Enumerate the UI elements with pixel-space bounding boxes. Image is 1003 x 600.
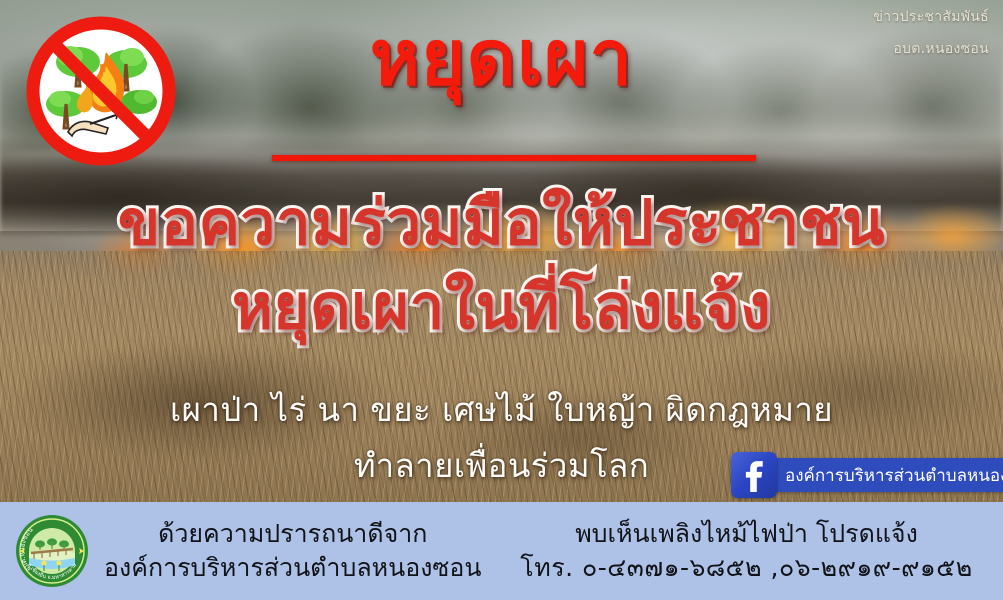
footer-phone-numbers: โทร. ๐-๔๓๗๑-๖๘๕๒ ,๐๖-๒๙๑๙-๙๑๕๒: [500, 551, 993, 586]
message-line-1: ขอความร่วมมือให้ประชาชน: [0, 188, 1003, 257]
subtext-line-1: เผาป่า ไร่ นา ขยะ เศษไม้ ใบหญ้า ผิดกฎหมา…: [0, 383, 1003, 436]
footer-organization-name: องค์การบริหารส่วนตำบลหนองซอน: [104, 551, 482, 586]
footer-report-fire-line: พบเห็นเพลิงไหม้ไฟป่า โปรดแจ้ง: [500, 517, 993, 552]
footer-right-block: พบเห็นเพลิงไหม้ไฟป่า โปรดแจ้ง โทร. ๐-๔๓๗…: [500, 517, 1003, 586]
facebook-badge[interactable]: องค์การบริหารส่วนตำบลหนองซอน: [731, 452, 1003, 498]
footer-bar: อบต.หนองซอน อ.เชียงยืน จ.มหาสารคาม ด้วยค…: [0, 502, 1003, 600]
footer-goodwill-line: ด้วยความปรารถนาดีจาก: [104, 517, 482, 552]
facebook-page-name[interactable]: องค์การบริหารส่วนตำบลหนองซอน: [769, 458, 1003, 492]
footer-left-block: อบต.หนองซอน อ.เชียงยืน จ.มหาสารคาม ด้วยค…: [0, 513, 500, 589]
municipality-seal-emblem: อบต.หนองซอน อ.เชียงยืน จ.มหาสารคาม: [14, 513, 90, 589]
message-line-2: หยุดเผาในที่โล่งแจ้ง: [0, 272, 1003, 341]
poster-root: ข่าวประชาสัมพันธ์ อบต.หนองซอน หยุดเผา ขอ…: [0, 0, 1003, 600]
footer-left-text: ด้วยความปรารถนาดีจาก องค์การบริหารส่วนตำ…: [104, 517, 482, 586]
facebook-icon[interactable]: [731, 452, 777, 498]
red-divider-rule: [272, 155, 756, 161]
headline-stop-burning: หยุดเผา: [0, 18, 1003, 98]
